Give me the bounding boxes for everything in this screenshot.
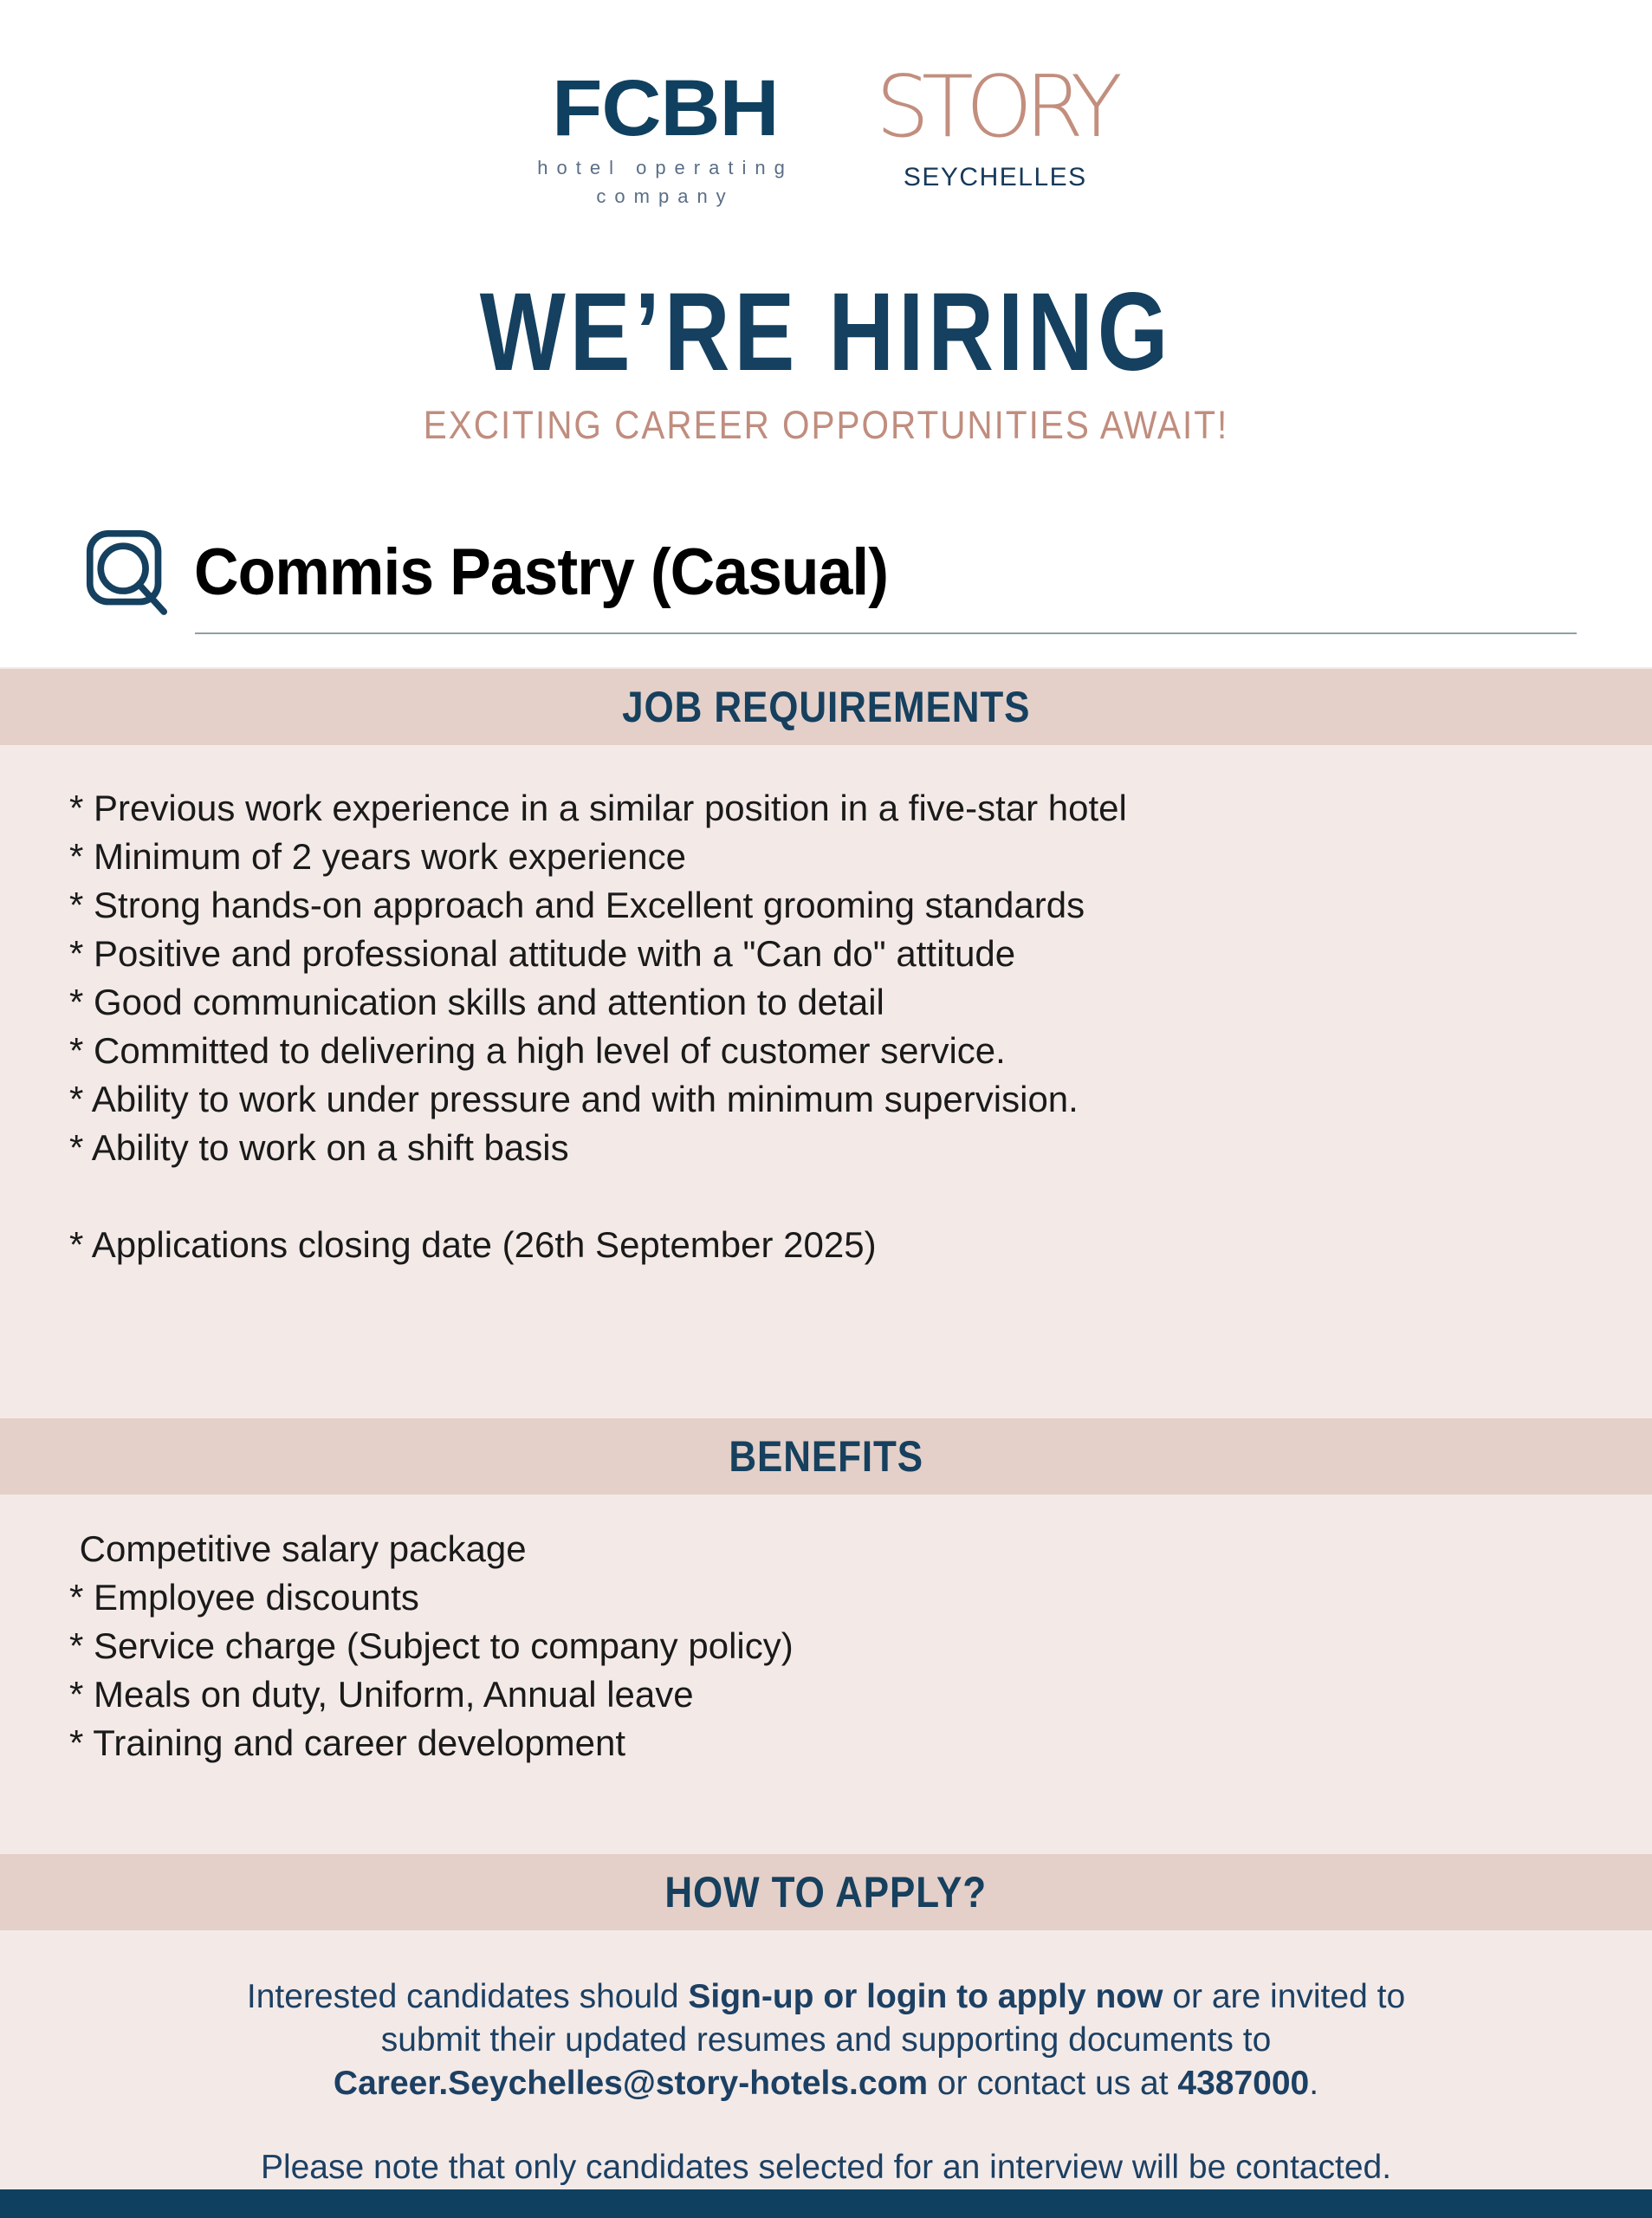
fcbh-logo: FCBH hotel operating company — [537, 52, 794, 211]
requirement-item: * Good communication skills and attentio… — [69, 978, 1127, 1027]
logo-row: FCBH hotel operating company STORY SEYCH… — [0, 52, 1652, 238]
apply-line3-mid: or contact us at — [928, 2065, 1177, 2102]
benefit-item: Competitive salary package — [69, 1525, 794, 1573]
requirement-item: * Previous work experience in a similar … — [69, 784, 1127, 833]
apply-line1-post: or are invited to — [1163, 1978, 1405, 2015]
section-title-requirements: JOB REQUIREMENTS — [622, 682, 1030, 732]
requirement-item: * Positive and professional attitude wit… — [69, 930, 1127, 978]
requirement-item: * Ability to work on a shift basis — [69, 1124, 1127, 1172]
footer-bar — [0, 2189, 1652, 2218]
page-subheadline: EXCITING CAREER OPPORTUNITIES AWAIT! — [82, 403, 1569, 448]
fcbh-tagline-line2: company — [596, 182, 734, 211]
benefit-item: * Service charge (Subject to company pol… — [69, 1622, 794, 1670]
apply-line-3: Career.Seychelles@story-hotels.com or co… — [0, 2062, 1652, 2105]
section-header-benefits: BENEFITS — [0, 1418, 1652, 1495]
section-title-benefits: BENEFITS — [729, 1431, 923, 1482]
page-headline: WE’RE HIRING — [149, 277, 1504, 388]
requirement-item: * Strong hands-on approach and Excellent… — [69, 881, 1127, 930]
title-divider — [195, 632, 1577, 634]
section-header-requirements: JOB REQUIREMENTS — [0, 669, 1652, 745]
apply-email-link[interactable]: Career.Seychelles@story-hotels.com — [334, 2065, 928, 2102]
section-header-apply: HOW TO APPLY? — [0, 1854, 1652, 1930]
requirement-item: * Ability to work under pressure and wit… — [69, 1075, 1127, 1124]
job-title-row: Commis Pastry (Casual) — [0, 520, 1652, 624]
fcbh-wordmark: FCBH — [552, 71, 779, 146]
apply-disclaimer-note: Please note that only candidates selecte… — [0, 2149, 1652, 2187]
apply-line1-pre: Interested candidates should — [247, 1978, 689, 2015]
requirement-item: * Applications closing date (26th Septem… — [69, 1221, 1127, 1269]
story-location-label: SEYCHELLES — [904, 163, 1087, 192]
apply-signup-link[interactable]: Sign-up or login to apply now — [688, 1978, 1163, 2015]
requirement-item: * Minimum of 2 years work experience — [69, 833, 1127, 881]
benefit-item: * Meals on duty, Uniform, Annual leave — [69, 1670, 794, 1719]
apply-line-1: Interested candidates should Sign-up or … — [0, 1975, 1652, 2019]
requirements-list: * Previous work experience in a similar … — [69, 784, 1127, 1269]
fcbh-tagline-line1: hotel operating — [537, 153, 794, 182]
benefits-list: Competitive salary package* Employee dis… — [69, 1525, 794, 1767]
section-title-apply: HOW TO APPLY? — [665, 1867, 988, 1917]
apply-line3-end: . — [1309, 2065, 1318, 2102]
search-icon — [85, 529, 168, 615]
apply-phone-number[interactable]: 4387000 — [1177, 2065, 1309, 2102]
apply-line-2: submit their updated resumes and support… — [0, 2019, 1652, 2062]
requirement-item — [69, 1172, 1127, 1221]
story-wordmark: STORY — [876, 69, 1115, 146]
page-title: Commis Pastry (Casual) — [194, 535, 888, 610]
story-logo: STORY SEYCHELLES — [876, 52, 1115, 192]
requirement-item: * Committed to delivering a high level o… — [69, 1027, 1127, 1075]
apply-instructions: Interested candidates should Sign-up or … — [0, 1975, 1652, 2105]
benefit-item: * Training and career development — [69, 1719, 794, 1767]
benefit-item: * Employee discounts — [69, 1573, 794, 1622]
